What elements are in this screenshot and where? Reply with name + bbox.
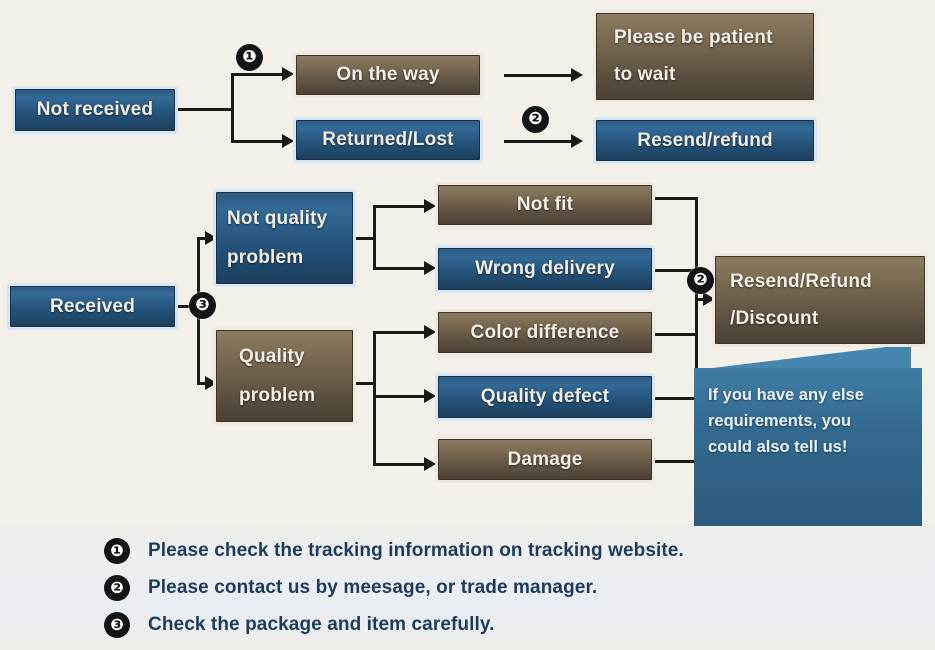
node-resend-refund-discount[interactable]: Resend/Refund /Discount [715,256,925,344]
legend-item-1: ❶ Please check the tracking information … [104,538,684,564]
connector-not-received-bus [231,73,234,143]
callout-box: If you have any else requirements, you c… [694,368,922,526]
connector-color-difference-out [652,333,698,336]
node-wrong-delivery-label: Wrong delivery [475,258,615,280]
node-not-received-label: Not received [37,99,153,121]
connector-on-the-way-to-patient [504,74,572,77]
node-color-difference[interactable]: Color difference [438,312,652,353]
node-returned-lost[interactable]: Returned/Lost [296,120,480,160]
connector-to-on-the-way [231,73,283,76]
flowchart-canvas: Not received ❶ On the way Returned/Lost … [0,0,935,650]
node-quality-problem[interactable]: Quality problem [216,330,353,422]
badge-resend-refund-discount: ❷ [687,267,714,294]
connector-to-returned-lost [231,140,283,143]
node-damage[interactable]: Damage [438,439,652,480]
node-color-difference-label: Color difference [471,322,620,344]
node-on-the-way-label: On the way [336,64,439,86]
connector-q-to-damage [373,463,425,466]
node-wrong-delivery[interactable]: Wrong delivery [438,248,652,290]
node-not-quality-line1: Not quality [217,208,327,230]
arrow-to-returned-lost [282,134,294,148]
callout-line-3: could also tell us! [708,434,908,460]
connector-quality-defect-out [652,397,698,400]
node-resend-refund[interactable]: Resend/refund [596,120,814,161]
node-quality-line1: Quality [217,346,305,368]
legend-number-2: ❷ [104,575,130,601]
badge-received-branch: ❸ [189,292,216,319]
connector-q-bus [373,331,376,466]
legend-text-2: Please contact us by meesage, or trade m… [148,577,597,599]
legend-item-2: ❷ Please contact us by meesage, or trade… [104,575,597,601]
legend-panel: ❶ Please check the tracking information … [0,526,935,650]
arrow-to-resend-refund-discount [703,292,715,306]
node-not-quality-problem[interactable]: Not quality problem [216,192,353,284]
legend-text-1: Please check the tracking information on… [148,540,684,562]
arrow-to-wrong-delivery [424,261,436,275]
node-returned-lost-label: Returned/Lost [322,129,453,151]
connector-q-to-quality-defect [373,395,425,398]
arrow-to-on-the-way [282,67,294,81]
node-not-quality-line2: problem [217,247,303,269]
node-resend-refund-label: Resend/refund [637,130,773,152]
connector-nq-to-not-fit [373,205,425,208]
node-received-label: Received [50,296,135,318]
connector-not-fit-out [652,197,698,200]
badge-resend-refund-top-label: ❷ [528,111,542,128]
connector-not-received-trunk [175,108,233,111]
connector-damage-out [652,460,698,463]
node-not-fit[interactable]: Not fit [438,185,652,225]
connector-nq-to-wrong-delivery [373,267,425,270]
node-damage-label: Damage [507,449,582,471]
node-quality-defect-label: Quality defect [481,386,609,408]
legend-number-3: ❸ [104,612,130,638]
node-received[interactable]: Received [10,286,175,327]
node-on-the-way[interactable]: On the way [296,55,480,95]
legend-text-3: Check the package and item carefully. [148,614,495,636]
legend-item-3: ❸ Check the package and item carefully. [104,612,495,638]
connector-returned-to-resend [504,140,572,143]
node-please-be-patient[interactable]: Please be patient to wait [596,13,814,100]
badge-resend-refund-top: ❷ [522,106,549,133]
arrow-to-color-difference [424,325,436,339]
node-please-be-patient-line1: Please be patient [597,27,773,49]
connector-nq-trunk [353,237,375,240]
node-quality-defect[interactable]: Quality defect [438,376,652,418]
callout-line-2: requirements, you [708,408,908,434]
connector-nq-bus [373,205,376,270]
arrow-to-not-fit [424,199,436,213]
callout-pointer [696,344,911,370]
legend-number-1: ❶ [104,538,130,564]
connector-q-trunk [353,382,375,385]
badge-received-branch-label: ❸ [195,297,209,314]
arrow-to-resend-refund [571,134,583,148]
badge-resend-refund-discount-label: ❷ [693,272,707,289]
arrow-to-quality-defect [424,389,436,403]
badge-top-branch: ❶ [236,44,263,71]
connector-q-to-color-difference [373,331,425,334]
node-not-received[interactable]: Not received [15,89,175,131]
node-resend-refund-discount-line2: /Discount [716,308,818,330]
arrow-to-damage [424,457,436,471]
node-resend-refund-discount-line1: Resend/Refund [716,271,872,293]
arrow-to-please-be-patient [571,68,583,82]
node-please-be-patient-line2: to wait [597,64,676,86]
badge-top-branch-label: ❶ [242,49,256,66]
node-not-fit-label: Not fit [517,194,573,216]
node-quality-line2: problem [217,385,315,407]
callout-line-1: If you have any else [708,382,908,408]
